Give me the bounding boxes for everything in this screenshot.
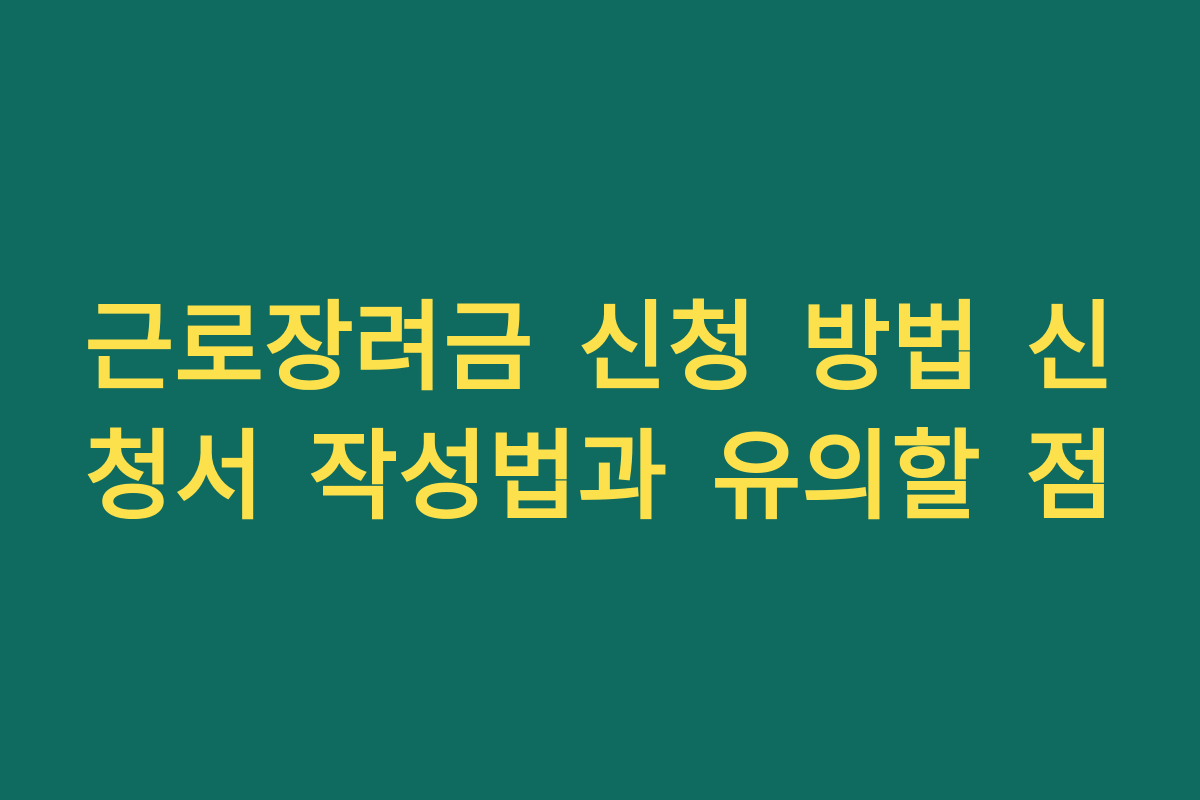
headline-line-2: 청서 작성법과 유의할 점 (80, 412, 1120, 541)
headline-line-1: 근로장려금 신청 방법 신 (80, 283, 1120, 412)
headline-block: 근로장려금 신청 방법 신 청서 작성법과 유의할 점 (80, 283, 1120, 541)
thumbnail-banner: 근로장려금 신청 방법 신 청서 작성법과 유의할 점 (0, 0, 1200, 800)
